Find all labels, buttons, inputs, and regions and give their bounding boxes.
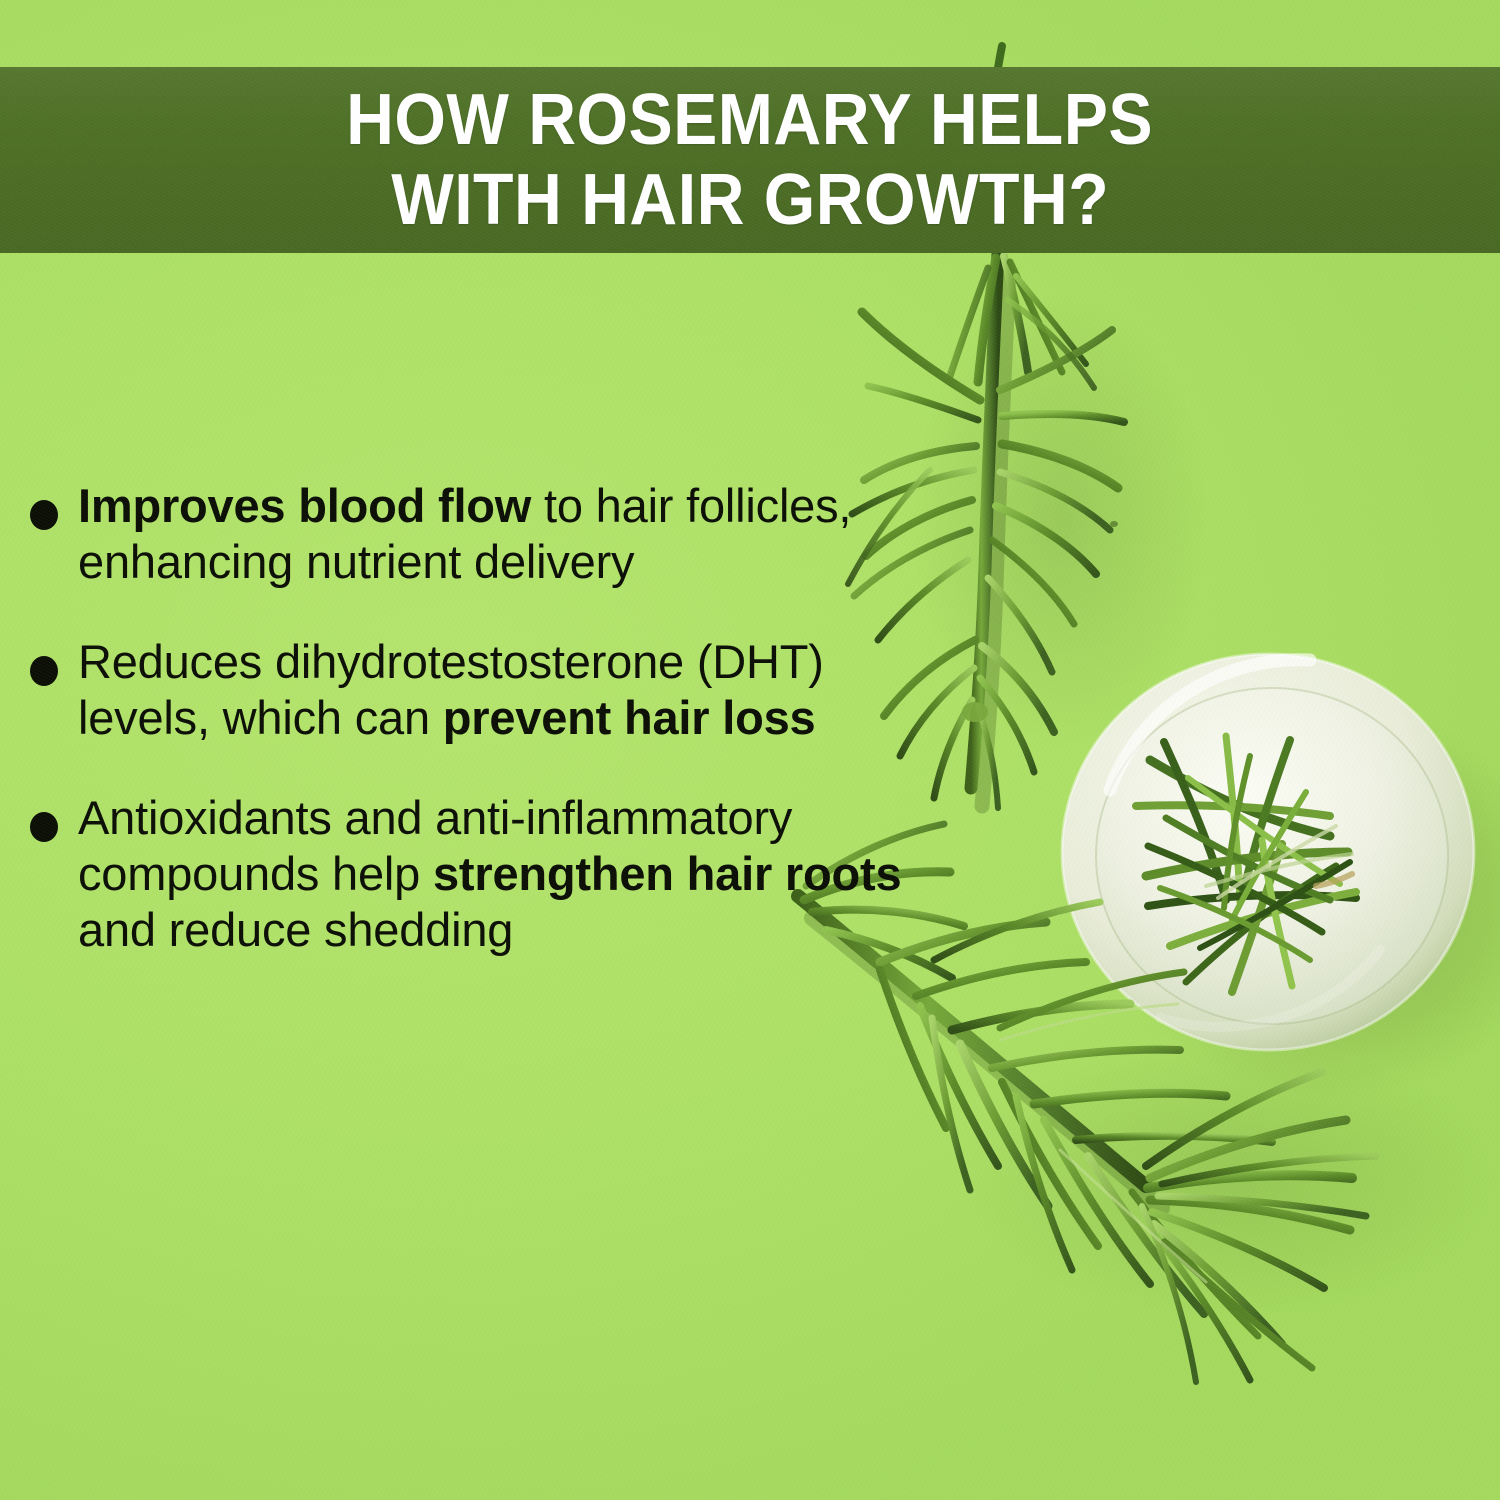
- needles-tip: [950, 256, 1086, 382]
- list-item: Antioxidants and anti-inflammatory compo…: [26, 790, 956, 958]
- white-ceramic-bowl: [1062, 654, 1474, 1050]
- page-title-line-2: WITH HAIR GROWTH?: [391, 160, 1109, 240]
- bullet-text: Reduces dihydrotestosterone (DHT) levels…: [78, 634, 956, 746]
- list-item: Reduces dihydrotestosterone (DHT) levels…: [26, 634, 956, 746]
- benefits-list: Improves blood flow to hair follicles, e…: [26, 478, 956, 1002]
- surface-shadows: [910, 290, 1500, 1320]
- page-title-line-1: HOW ROSEMARY HELPS: [347, 80, 1154, 160]
- needles-fan-end: [1142, 1072, 1376, 1382]
- rosemary-needles-in-bowl: [1136, 736, 1356, 992]
- bullet-text: Improves blood flow to hair follicles, e…: [78, 478, 956, 590]
- title-band: HOW ROSEMARY HELPS WITH HAIR GROWTH?: [0, 67, 1500, 253]
- needles-right-upper: [988, 330, 1124, 672]
- needles-lower-lower-sprig: [880, 970, 1258, 1336]
- bullet-dot-icon: [30, 500, 58, 530]
- surface-speck: [1110, 521, 1118, 527]
- bullet-dot-icon: [30, 656, 58, 686]
- list-item: Improves blood flow to hair follicles, e…: [26, 478, 956, 590]
- bullet-dot-icon: [30, 812, 58, 842]
- bullet-text: Antioxidants and anti-inflammatory compo…: [78, 790, 956, 958]
- stem: [971, 252, 998, 788]
- needle-tip-above-band: [998, 46, 1002, 68]
- poster-canvas: HOW ROSEMARY HELPS WITH HAIR GROWTH? Imp…: [0, 0, 1500, 1500]
